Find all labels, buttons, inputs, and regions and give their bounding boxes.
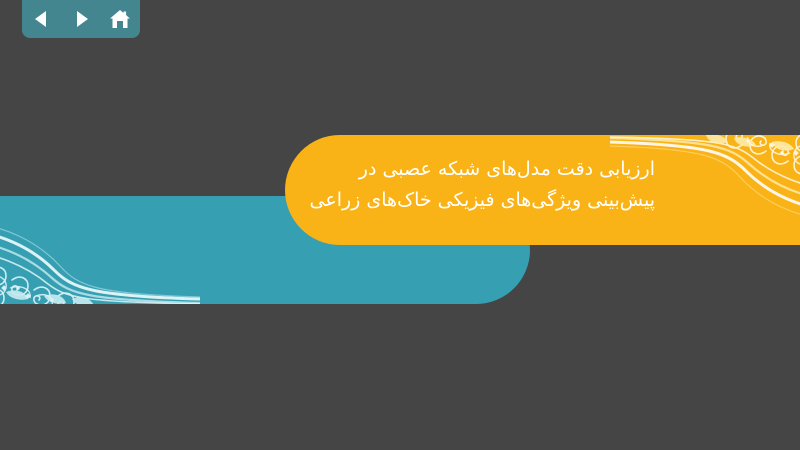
next-slide-button[interactable] [67, 6, 95, 32]
title-band: ارزیابی دقت مدل‌های شبکه عصبی در پیش‌بین… [285, 135, 800, 245]
slide-title-line-1: ارزیابی دقت مدل‌های شبکه عصبی در [325, 154, 655, 185]
previous-slide-button[interactable] [28, 6, 56, 32]
slide-title: ارزیابی دقت مدل‌های شبکه عصبی در پیش‌بین… [325, 154, 655, 216]
presentation-slide: ارزیابی دقت مدل‌های شبکه عصبی در پیش‌بین… [0, 0, 800, 450]
islamic-arabesque-ornament-bottom-left [0, 196, 200, 304]
home-slide-button[interactable] [106, 6, 134, 32]
home-icon [109, 9, 131, 29]
back-arrow-icon [32, 9, 52, 29]
navigation-toolbar [22, 0, 140, 38]
forward-arrow-icon [71, 9, 91, 29]
slide-title-line-2: پیش‌بینی ویژگی‌های فیزیکی خاک‌های زراعی [325, 185, 655, 216]
